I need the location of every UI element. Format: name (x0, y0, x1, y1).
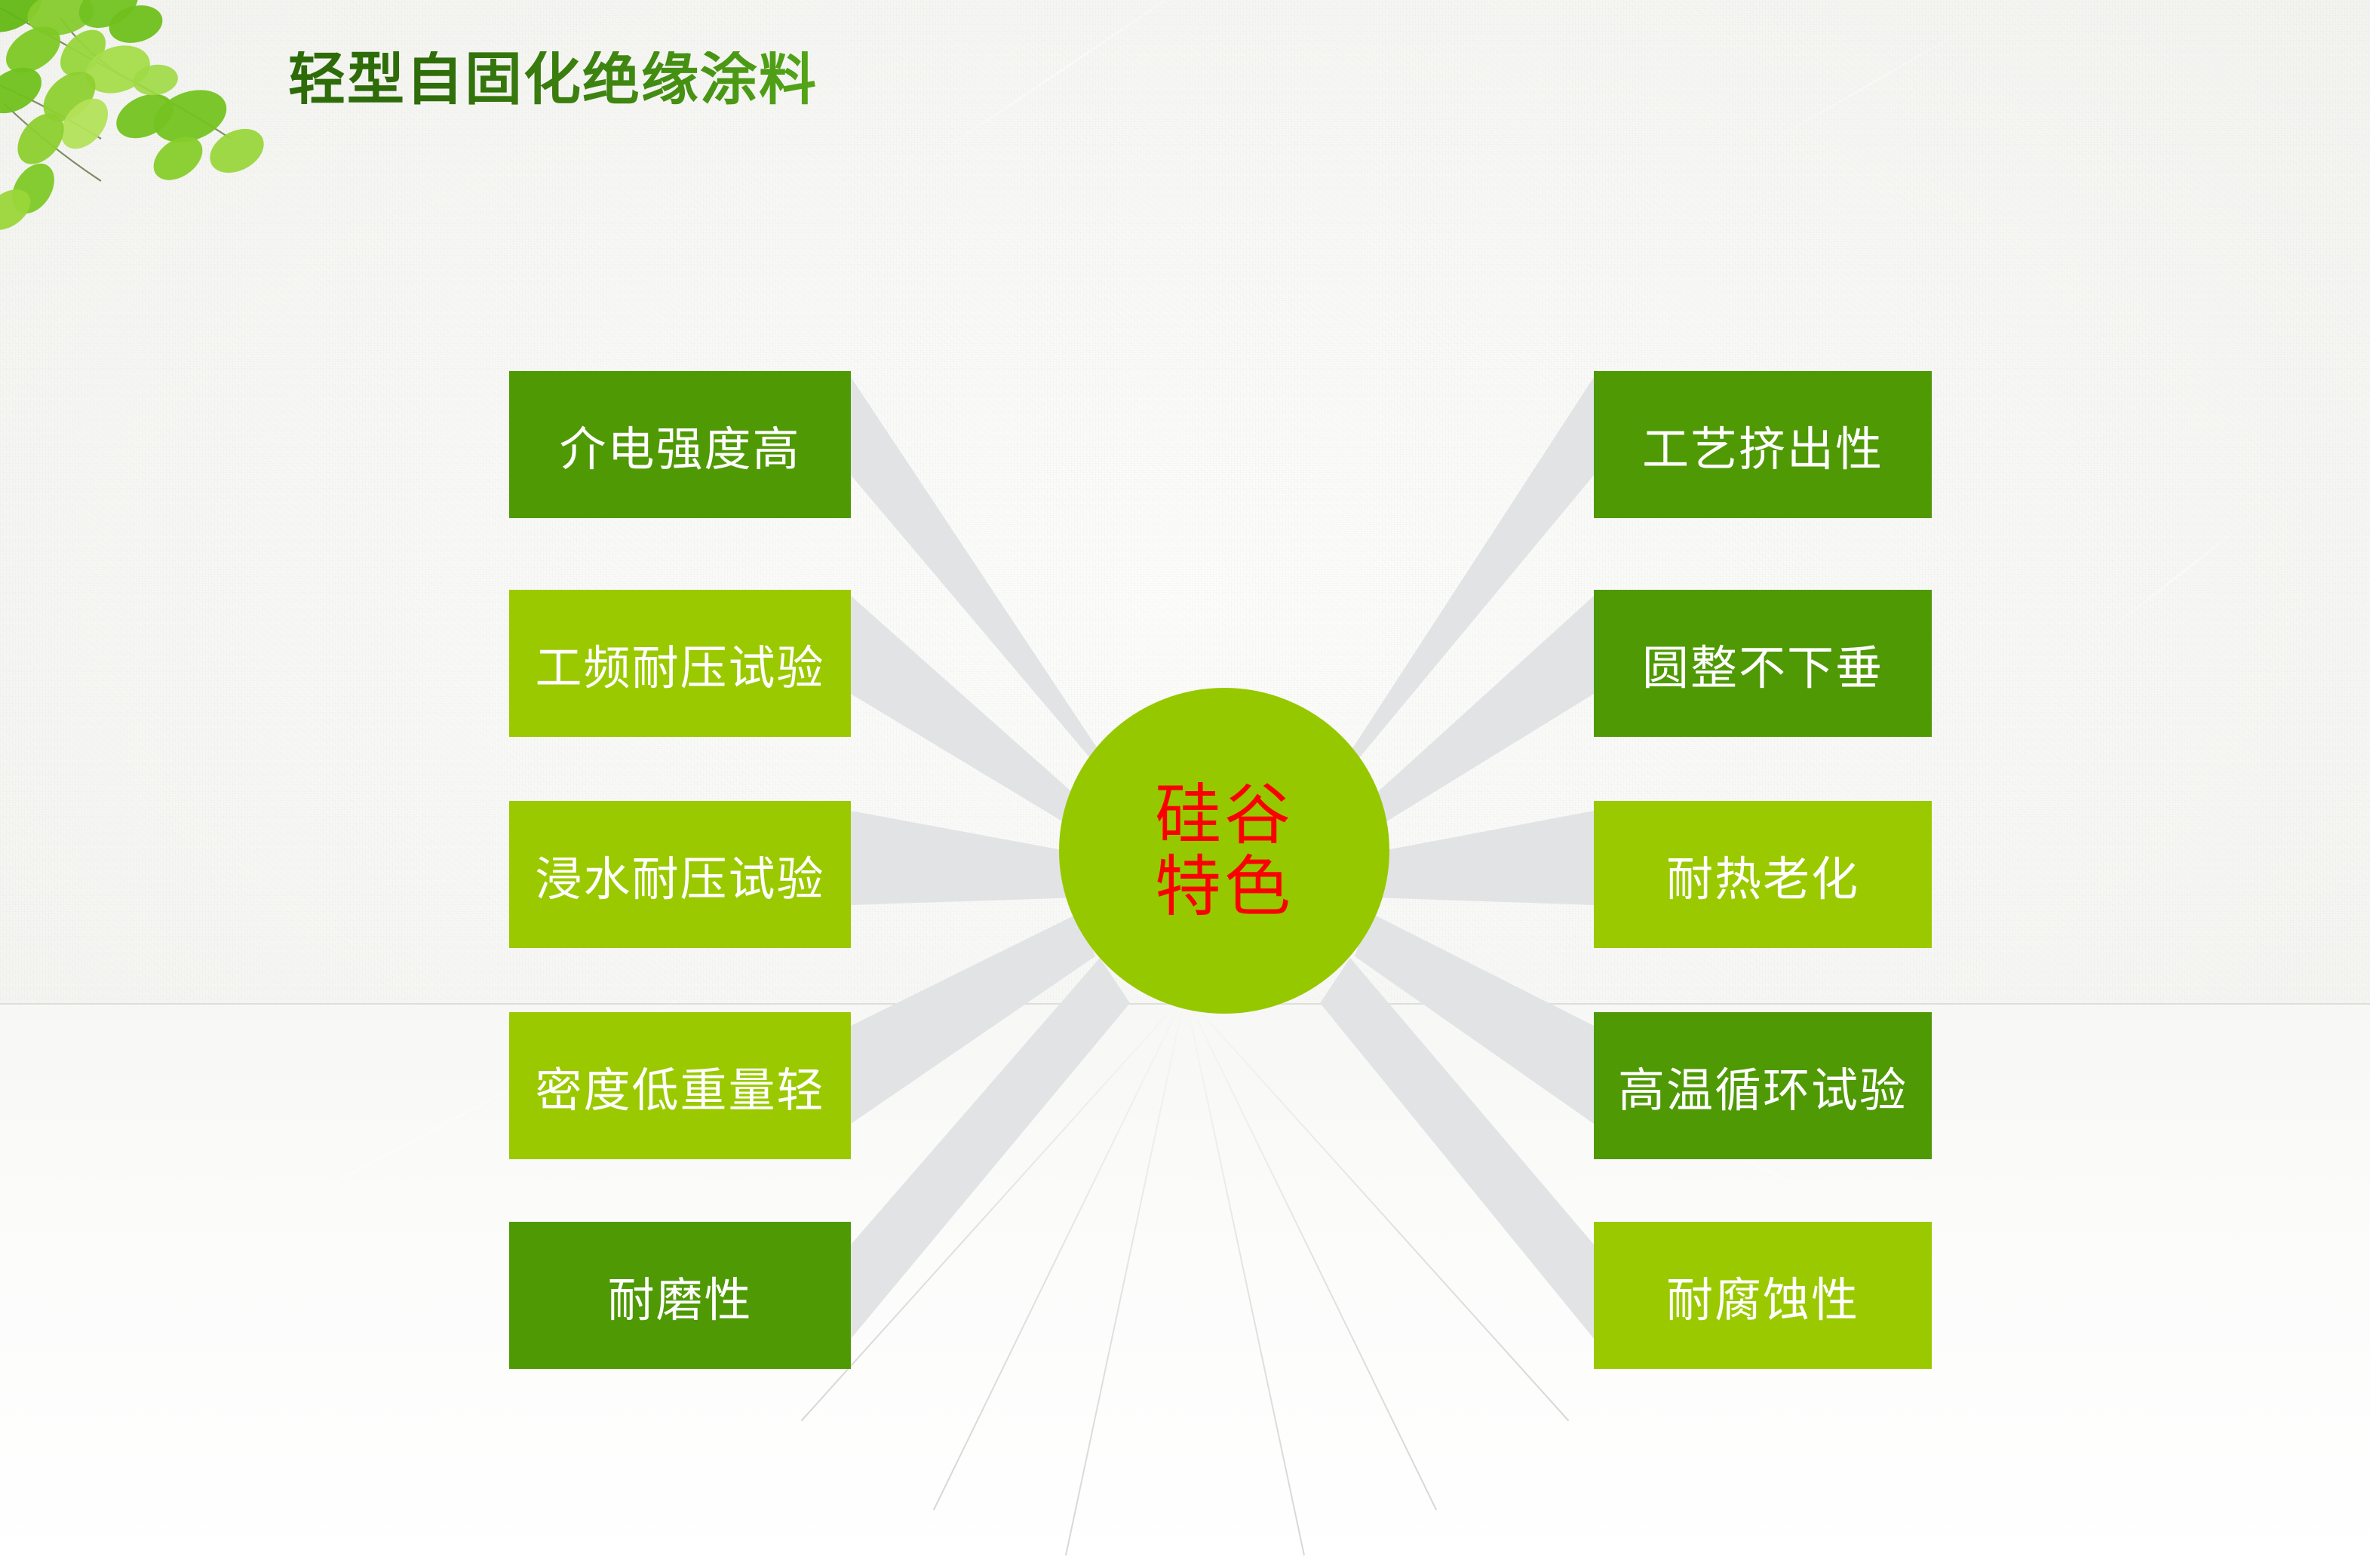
feature-label: 耐腐蚀性 (1666, 1262, 1859, 1330)
feature-box-left-5[interactable]: 耐磨性 (509, 1222, 851, 1369)
feature-box-right-2[interactable]: 圆整不下垂 (1594, 590, 1932, 737)
ray-right-3 (1371, 811, 1594, 905)
feature-label: 工艺挤出性 (1642, 411, 1883, 479)
feature-label: 耐热老化 (1666, 841, 1859, 909)
feature-box-right-4[interactable]: 高温循环试验 (1594, 1012, 1932, 1159)
feature-label: 高温循环试验 (1618, 1052, 1908, 1120)
hub-label-line1: 硅谷 (1155, 779, 1294, 851)
feature-label: 圆整不下垂 (1642, 630, 1883, 698)
feature-label: 工频耐压试验 (535, 630, 824, 698)
feature-label: 密度低重量轻 (535, 1052, 824, 1120)
feature-box-left-4[interactable]: 密度低重量轻 (509, 1012, 851, 1159)
hub-label-line2: 特色 (1155, 851, 1294, 922)
feature-box-left-2[interactable]: 工频耐压试验 (509, 590, 851, 737)
feature-box-left-3[interactable]: 浸水耐压试验 (509, 801, 851, 948)
feature-label: 耐磨性 (607, 1262, 752, 1330)
feature-box-right-5[interactable]: 耐腐蚀性 (1594, 1222, 1932, 1369)
slide-canvas: 轻型自固化绝缘涂料 硅谷 特色 介电强度高 工频耐压试验 浸水耐压试验 密度低重… (0, 0, 2370, 1568)
feature-box-right-1[interactable]: 工艺挤出性 (1594, 371, 1932, 518)
feature-label: 浸水耐压试验 (535, 841, 824, 909)
center-hub[interactable]: 硅谷 特色 (1059, 688, 1389, 1014)
ray-left-3 (851, 811, 1080, 905)
feature-label: 介电强度高 (559, 411, 800, 479)
feature-box-left-1[interactable]: 介电强度高 (509, 371, 851, 518)
feature-box-right-3[interactable]: 耐热老化 (1594, 801, 1932, 948)
